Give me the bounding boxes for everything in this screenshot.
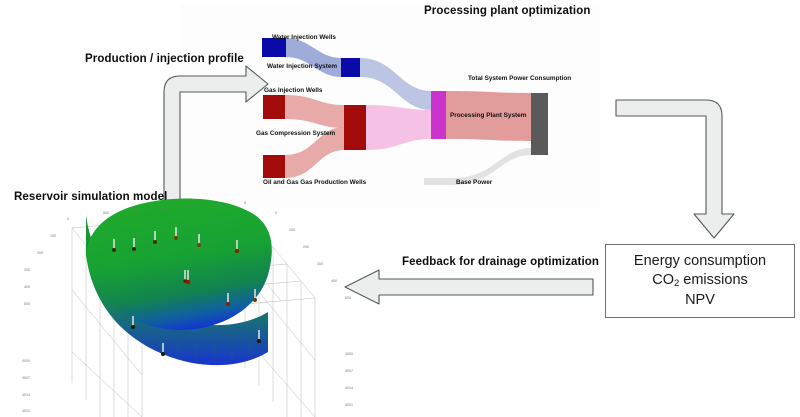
svg-text:400: 400 [24,285,30,289]
svg-text:200: 200 [37,251,43,255]
svg-text:300: 300 [317,262,323,266]
svg-text:500: 500 [345,296,351,300]
svg-text:400: 400 [331,279,337,283]
reservoir-left-axis-ticks: 0100 200300 400500 [24,217,69,306]
svg-text:4014: 4014 [22,393,30,397]
svg-text:4000: 4000 [345,352,353,356]
svg-text:0: 0 [67,217,69,221]
svg-text:200: 200 [303,245,309,249]
svg-text:0: 0 [244,201,246,205]
svg-text:4014: 4014 [345,386,353,390]
svg-text:0: 0 [275,211,277,215]
svg-text:4021: 4021 [22,409,30,413]
reservoir-right-depth-ticks: 40004007 40144021 [345,352,353,407]
svg-text:300: 300 [24,268,30,272]
svg-text:400: 400 [131,209,137,213]
reservoir-left-depth-ticks: 40004007 40144021 [22,359,30,413]
svg-text:4007: 4007 [22,376,30,380]
svg-text:200: 200 [187,205,193,209]
svg-text:4007: 4007 [345,369,353,373]
svg-text:300: 300 [159,207,165,211]
reservoir-right-axis-ticks: 0100 200300 400500 [275,211,351,300]
svg-text:4021: 4021 [345,403,353,407]
svg-text:100: 100 [215,203,221,207]
svg-text:100: 100 [289,228,295,232]
svg-text:100: 100 [50,234,56,238]
svg-text:500: 500 [24,302,30,306]
svg-text:4000: 4000 [22,359,30,363]
reservoir-simulation-plot: 500400 300200 1000 0100 200300 400500 40… [0,0,800,417]
svg-text:500: 500 [103,211,109,215]
